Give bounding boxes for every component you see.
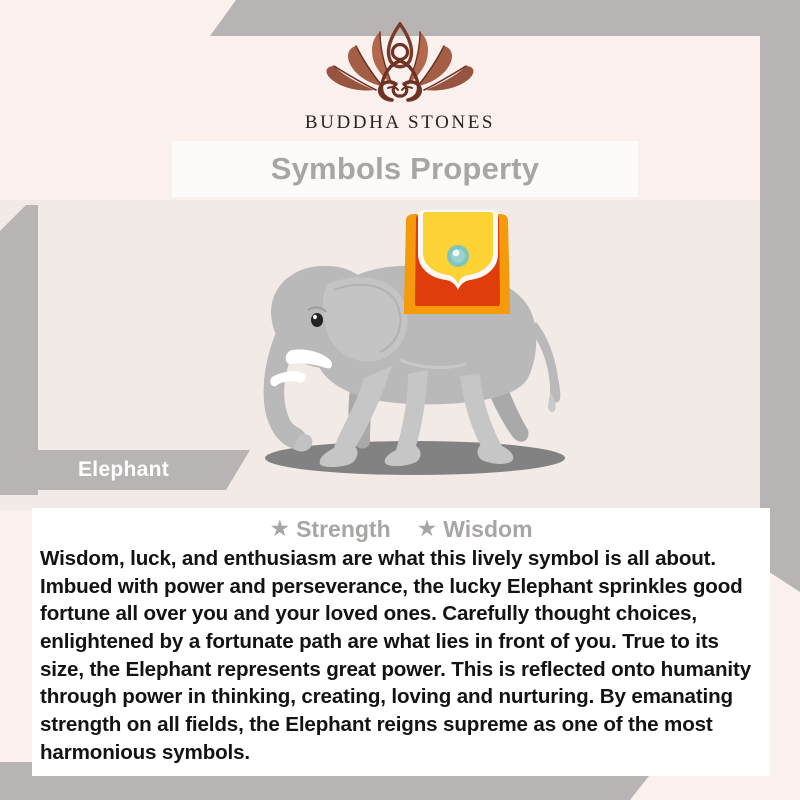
brand-logo: BUDDHA STONES (0, 22, 800, 134)
attribute-wisdom: ★ Wisdom (417, 516, 533, 543)
attribute-strength: ★ Strength (269, 516, 390, 543)
attribute-label: Wisdom (443, 516, 532, 543)
attribute-label: Strength (296, 516, 391, 543)
star-icon: ★ (417, 517, 438, 540)
lotus-meditating-figure-logo-icon (320, 22, 480, 108)
walking-elephant-with-saddle-illustration-icon (210, 210, 610, 500)
symbol-description: Wisdom, luck, and enthusiasm are what th… (38, 545, 764, 767)
symbol-name: Elephant (78, 458, 169, 482)
attribute-list: ★ Strength ★ Wisdom (38, 516, 764, 543)
description-panel: ★ Strength ★ Wisdom Wisdom, luck, and en… (32, 508, 770, 776)
symbol-name-banner: Elephant (0, 450, 250, 490)
symbol-property-card: BUDDHA STONES Symbols Property (0, 0, 800, 800)
page-title: Symbols Property (271, 151, 540, 187)
brand-name: BUDDHA STONES (305, 112, 495, 134)
star-icon: ★ (269, 517, 290, 540)
title-banner: Symbols Property (172, 141, 638, 197)
